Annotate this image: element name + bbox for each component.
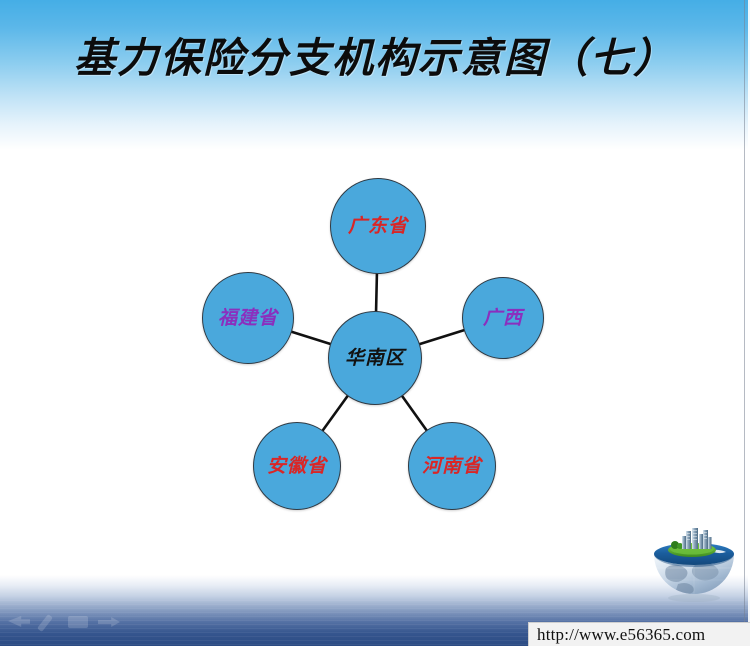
diagram-node-guangxi[interactable]: 广西 (462, 277, 544, 359)
diagram-node-fujian[interactable]: 福建省 (202, 272, 294, 364)
slide-canvas: 基力保险分支机构示意图（七） 广东省福建省广西安徽省河南省华南区 (0, 0, 750, 646)
diagram-node-guangdong[interactable]: 广东省 (330, 178, 426, 274)
diagram-node-center[interactable]: 华南区 (328, 311, 422, 405)
diagram-node-label-guangdong: 广东省 (348, 217, 408, 236)
watermark-url-text: http://www.e56365.com (537, 625, 705, 645)
diagram-node-label-guangxi: 广西 (483, 309, 523, 328)
diagram-node-anhui[interactable]: 安徽省 (253, 422, 341, 510)
globe-city-icon (648, 528, 740, 610)
diagram-node-henan[interactable]: 河南省 (408, 422, 496, 510)
url-watermark: http://www.e56365.com (528, 622, 750, 646)
diagram-node-label-fujian: 福建省 (218, 309, 278, 328)
water-square-shape (68, 616, 88, 628)
diagram-node-label-center: 华南区 (345, 349, 405, 368)
page-title: 基力保险分支机构示意图（七） (0, 24, 750, 84)
diagram-node-label-henan: 河南省 (422, 457, 482, 476)
diagram-node-label-anhui: 安徽省 (267, 457, 327, 476)
slide-frame-right-border (744, 0, 745, 646)
